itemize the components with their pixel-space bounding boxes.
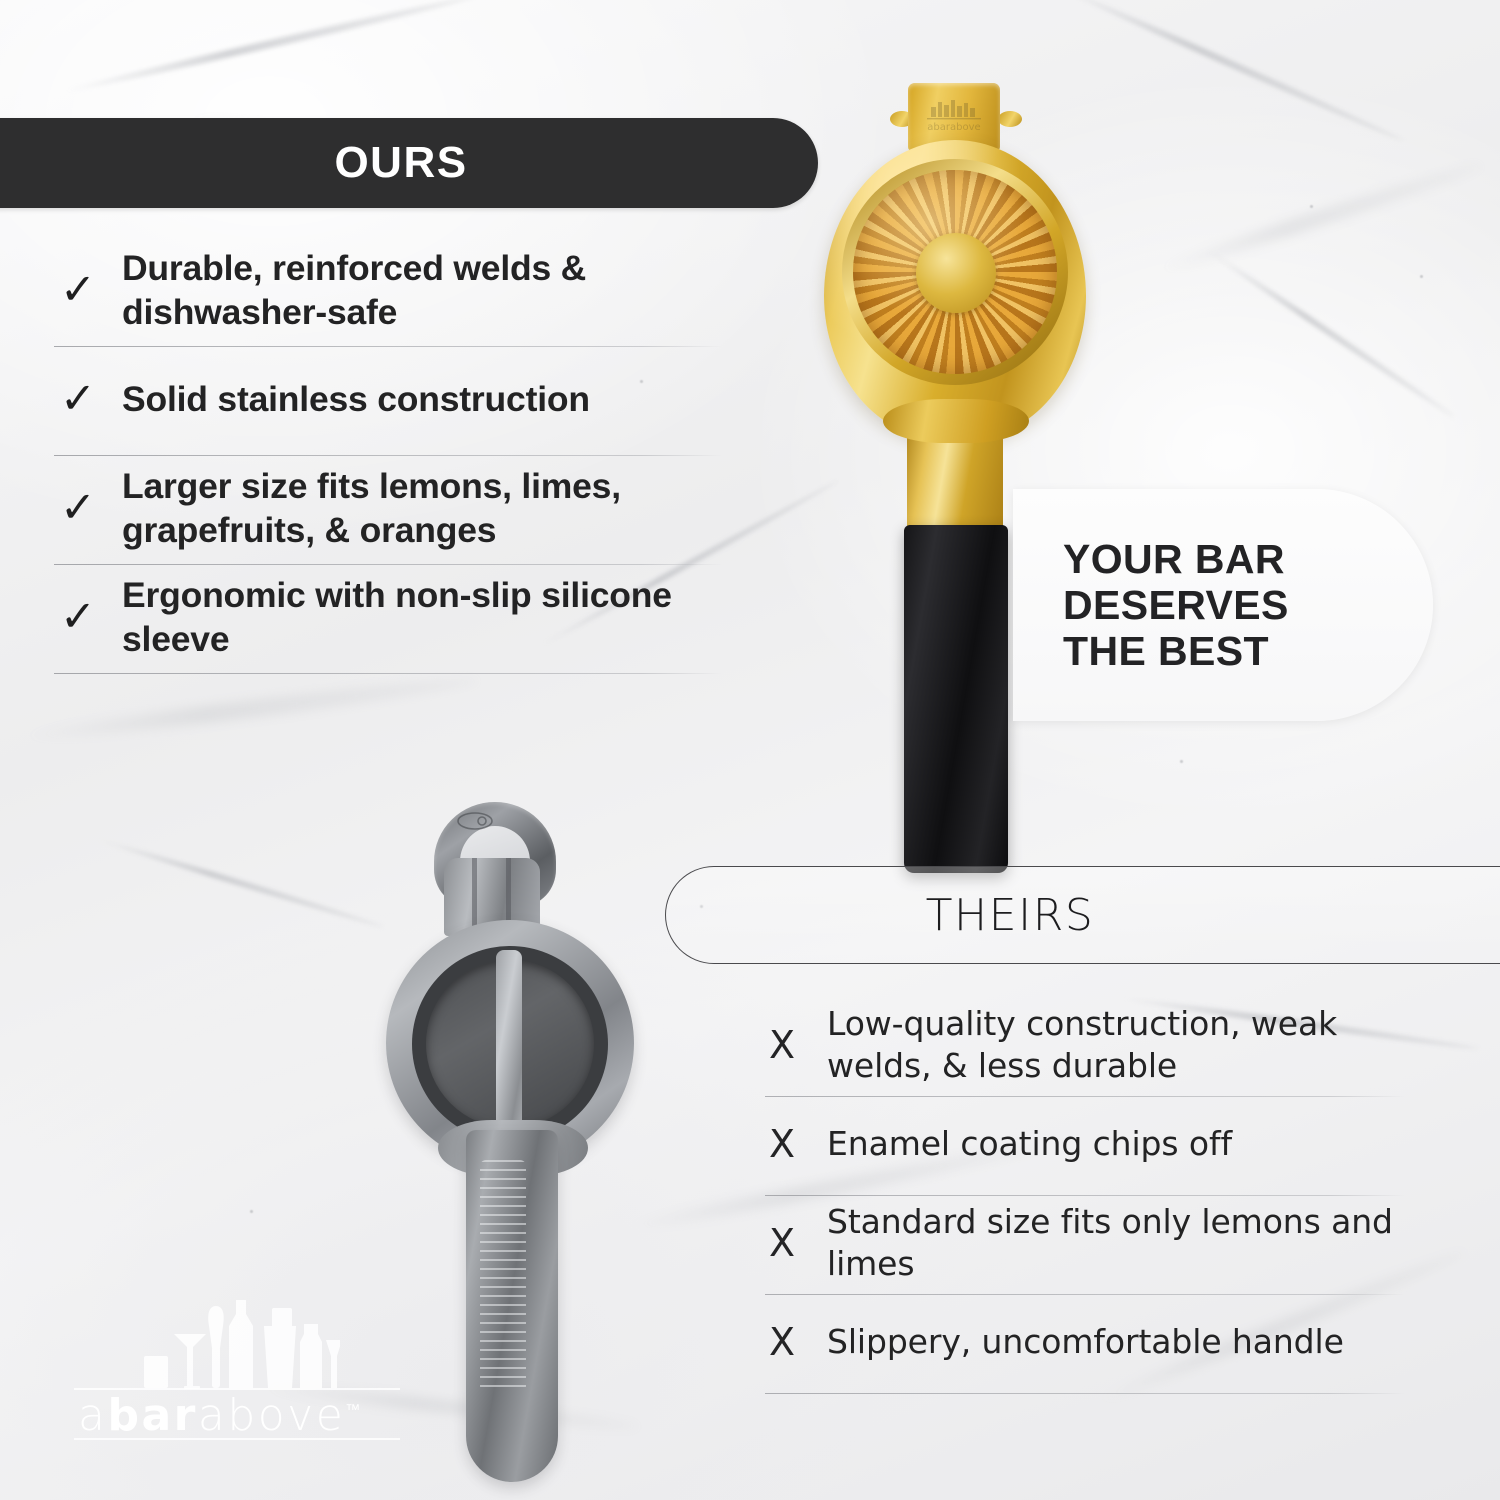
list-item: ✓ Solid stainless construction bbox=[54, 347, 722, 455]
list-item-label: Standard size fits only lemons and limes bbox=[827, 1201, 1405, 1284]
brand-wordmark: abarabove™ bbox=[78, 1390, 396, 1441]
brand-logo: abarabove™ bbox=[62, 1292, 412, 1444]
list-item: ✓ Ergonomic with non-slip silicone sleev… bbox=[54, 565, 722, 673]
list-item-label: Solid stainless construction bbox=[122, 377, 590, 421]
juicer-bowl-center-dome bbox=[916, 233, 996, 313]
list-divider bbox=[54, 673, 722, 674]
list-item: ✓ Larger size fits lemons, limes, grapef… bbox=[54, 456, 722, 564]
list-item-label: Slippery, uncomfortable handle bbox=[827, 1321, 1344, 1363]
juicer-silicone-handle bbox=[904, 525, 1008, 873]
competitor-handle-grip-texture bbox=[480, 1160, 526, 1392]
svg-text:abarabove: abarabove bbox=[927, 122, 980, 133]
comparison-infographic: OURS ✓ Durable, reinforced welds & dishw… bbox=[0, 0, 1500, 1500]
brand-word-bar: bar bbox=[107, 1390, 197, 1441]
cross-icon: X bbox=[765, 1323, 827, 1361]
theirs-header-pill: THEIRS bbox=[665, 866, 1500, 964]
etched-brand-logo-icon: abarabove bbox=[923, 99, 985, 133]
list-item: ✓ Durable, reinforced welds & dishwasher… bbox=[54, 238, 722, 346]
list-item-label: Low-quality construction, weak welds, & … bbox=[827, 1003, 1405, 1086]
juicer-neck bbox=[907, 407, 1003, 539]
list-item-label: Larger size fits lemons, limes, grapefru… bbox=[122, 464, 722, 552]
juicer-hinge-pin-right bbox=[998, 111, 1022, 127]
cross-icon: X bbox=[765, 1224, 827, 1262]
badge-text: YOUR BAR DESERVES THE BEST bbox=[1013, 536, 1289, 675]
badge-line-1: YOUR BAR bbox=[1063, 536, 1289, 582]
logo-rule-bottom bbox=[74, 1438, 400, 1440]
list-item: X Standard size fits only lemons and lim… bbox=[765, 1196, 1405, 1294]
list-item: X Enamel coating chips off bbox=[765, 1097, 1405, 1195]
brand-word-a: a bbox=[78, 1390, 107, 1441]
brand-word-above: above bbox=[198, 1390, 345, 1441]
list-item-label: Durable, reinforced welds & dishwasher-s… bbox=[122, 246, 722, 334]
ours-header-label: OURS bbox=[310, 138, 467, 188]
ours-feature-list: ✓ Durable, reinforced welds & dishwasher… bbox=[54, 238, 722, 674]
gold-citrus-juicer-image: abarabove bbox=[790, 55, 1120, 845]
list-item: X Low-quality construction, weak welds, … bbox=[765, 998, 1405, 1096]
theirs-header-label: THEIRS bbox=[926, 890, 1287, 941]
ours-header-pill: OURS bbox=[0, 118, 818, 208]
barware-silhouettes-icon bbox=[140, 1298, 340, 1395]
list-divider bbox=[765, 1393, 1405, 1394]
gray-citrus-juicer-image bbox=[378, 800, 648, 1500]
competitor-brand-mark-icon bbox=[452, 810, 498, 832]
list-item-label: Enamel coating chips off bbox=[827, 1123, 1232, 1165]
checkmark-icon: ✓ bbox=[54, 487, 122, 530]
checkmark-icon: ✓ bbox=[54, 378, 122, 421]
theirs-drawback-list: X Low-quality construction, weak welds, … bbox=[765, 998, 1405, 1394]
badge-line-2: DESERVES bbox=[1063, 582, 1289, 628]
trademark-symbol: ™ bbox=[345, 1400, 363, 1418]
deserves-the-best-badge: YOUR BAR DESERVES THE BEST bbox=[1013, 489, 1433, 721]
checkmark-icon: ✓ bbox=[54, 596, 122, 639]
cross-icon: X bbox=[765, 1026, 827, 1064]
list-item: X Slippery, uncomfortable handle bbox=[765, 1295, 1405, 1393]
list-item-label: Ergonomic with non-slip silicone sleeve bbox=[122, 573, 722, 661]
checkmark-icon: ✓ bbox=[54, 269, 122, 312]
cross-icon: X bbox=[765, 1125, 827, 1163]
badge-line-3: THE BEST bbox=[1063, 628, 1289, 674]
